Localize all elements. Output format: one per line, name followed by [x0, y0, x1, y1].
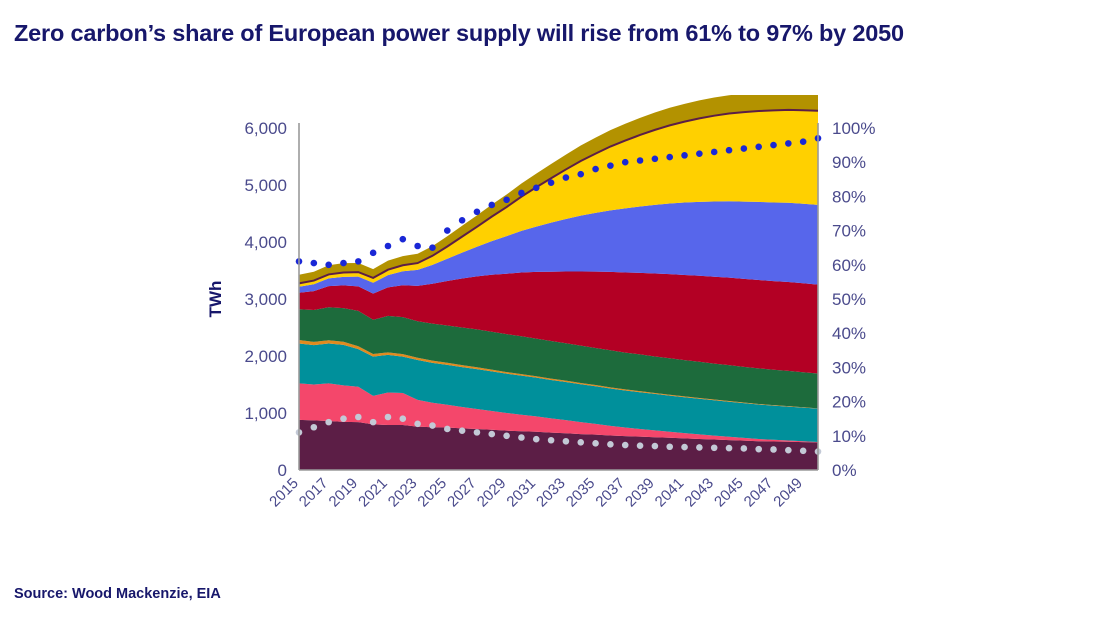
datapoint — [726, 147, 733, 154]
datapoint — [414, 421, 421, 428]
stacked-areas — [299, 95, 818, 470]
datapoint — [400, 415, 407, 422]
datapoint — [652, 155, 659, 162]
y-tick-label: 2,000 — [244, 347, 287, 366]
y-tick-label: 0 — [278, 461, 287, 480]
y-tick-label: 1,000 — [244, 404, 287, 423]
x-axis-ticks: 2015201720192021202320252027202920312033… — [266, 475, 806, 511]
datapoint — [607, 441, 614, 448]
datapoint — [325, 262, 332, 269]
datapoint — [785, 140, 792, 147]
datapoint — [414, 243, 421, 250]
datapoint — [741, 445, 748, 452]
datapoint — [563, 174, 570, 181]
y2-tick-label: 90% — [832, 153, 866, 172]
y-tick-label: 5,000 — [244, 176, 287, 195]
datapoint — [548, 179, 555, 186]
datapoint — [548, 437, 555, 444]
chart-container: 01,0002,0003,0004,0005,0006,0000%10%20%3… — [0, 95, 1115, 555]
y2-tick-label: 30% — [832, 358, 866, 377]
datapoint — [592, 166, 599, 173]
y2-tick-label: 20% — [832, 393, 866, 412]
x-tick-label: 2047 — [741, 475, 777, 511]
datapoint — [385, 243, 392, 250]
datapoint — [755, 144, 762, 151]
x-tick-label: 2021 — [355, 475, 391, 511]
datapoint — [474, 208, 481, 215]
datapoint — [355, 414, 362, 421]
x-tick-label: 2037 — [592, 475, 628, 511]
datapoint — [637, 157, 644, 164]
datapoint — [741, 145, 748, 152]
datapoint — [429, 244, 436, 251]
y2-tick-label: 60% — [832, 256, 866, 275]
datapoint — [311, 260, 318, 267]
x-tick-label: 2029 — [474, 475, 510, 511]
datapoint — [370, 250, 377, 257]
y-tick-label: 4,000 — [244, 233, 287, 252]
x-tick-label: 2035 — [563, 475, 599, 511]
x-tick-label: 2023 — [385, 475, 421, 511]
datapoint — [681, 152, 688, 159]
datapoint — [770, 446, 777, 453]
x-tick-label: 2025 — [414, 475, 450, 511]
datapoint — [666, 154, 673, 161]
x-tick-label: 2031 — [503, 475, 539, 511]
page-title: Zero carbon’s share of European power su… — [14, 20, 904, 47]
x-tick-label: 2045 — [711, 475, 747, 511]
datapoint — [533, 185, 540, 192]
datapoint — [503, 433, 510, 440]
y-axis-title: TWh — [206, 281, 225, 318]
datapoint — [592, 440, 599, 447]
datapoint — [711, 149, 718, 156]
datapoint — [474, 429, 481, 436]
x-tick-label: 2027 — [444, 475, 480, 511]
datapoint — [785, 447, 792, 454]
datapoint — [696, 444, 703, 451]
y2-axis-ticks: 0%10%20%30%40%50%60%70%80%90%100% — [832, 119, 875, 480]
datapoint — [518, 434, 525, 441]
datapoint — [459, 427, 466, 434]
y-tick-label: 3,000 — [244, 290, 287, 309]
stacked-area-chart: 01,0002,0003,0004,0005,0006,0000%10%20%3… — [0, 95, 1115, 555]
datapoint — [622, 159, 629, 166]
datapoint — [770, 142, 777, 149]
y-axis-ticks: 01,0002,0003,0004,0005,0006,000 — [244, 119, 287, 480]
datapoint — [622, 442, 629, 449]
x-tick-label: 2043 — [681, 475, 717, 511]
datapoint — [800, 448, 807, 455]
datapoint — [503, 197, 510, 204]
datapoint — [518, 190, 525, 197]
datapoint — [444, 227, 451, 234]
datapoint — [340, 415, 347, 422]
datapoint — [607, 162, 614, 169]
datapoint — [563, 438, 570, 445]
datapoint — [444, 426, 451, 433]
datapoint — [459, 217, 466, 224]
x-tick-label: 2019 — [326, 475, 362, 511]
x-tick-label: 2039 — [622, 475, 658, 511]
source-note: Source: Wood Mackenzie, EIA — [14, 586, 221, 602]
datapoint — [800, 138, 807, 145]
datapoint — [577, 171, 584, 178]
datapoint — [488, 202, 495, 209]
y2-tick-label: 40% — [832, 324, 866, 343]
y2-tick-label: 10% — [832, 427, 866, 446]
datapoint — [385, 414, 392, 421]
datapoint — [696, 150, 703, 157]
datapoint — [325, 419, 332, 426]
y2-tick-label: 100% — [832, 119, 875, 138]
x-tick-label: 2033 — [533, 475, 569, 511]
datapoint — [666, 443, 673, 450]
datapoint — [652, 443, 659, 450]
y-tick-label: 6,000 — [244, 119, 287, 138]
datapoint — [488, 431, 495, 438]
datapoint — [355, 258, 362, 265]
datapoint — [533, 436, 540, 443]
datapoint — [681, 444, 688, 451]
datapoint — [429, 422, 436, 429]
y2-tick-label: 50% — [832, 290, 866, 309]
y2-tick-label: 0% — [832, 461, 857, 480]
datapoint — [311, 424, 318, 431]
datapoint — [637, 442, 644, 449]
datapoint — [711, 444, 718, 451]
x-tick-label: 2015 — [266, 475, 302, 511]
datapoint — [370, 419, 377, 426]
datapoint — [726, 445, 733, 452]
y2-tick-label: 70% — [832, 222, 866, 241]
datapoint — [755, 446, 762, 453]
x-tick-label: 2041 — [652, 475, 688, 511]
x-tick-label: 2017 — [296, 475, 332, 511]
datapoint — [577, 439, 584, 446]
x-tick-label: 2049 — [770, 475, 806, 511]
datapoint — [340, 260, 347, 267]
y2-tick-label: 80% — [832, 187, 866, 206]
datapoint — [400, 236, 407, 243]
